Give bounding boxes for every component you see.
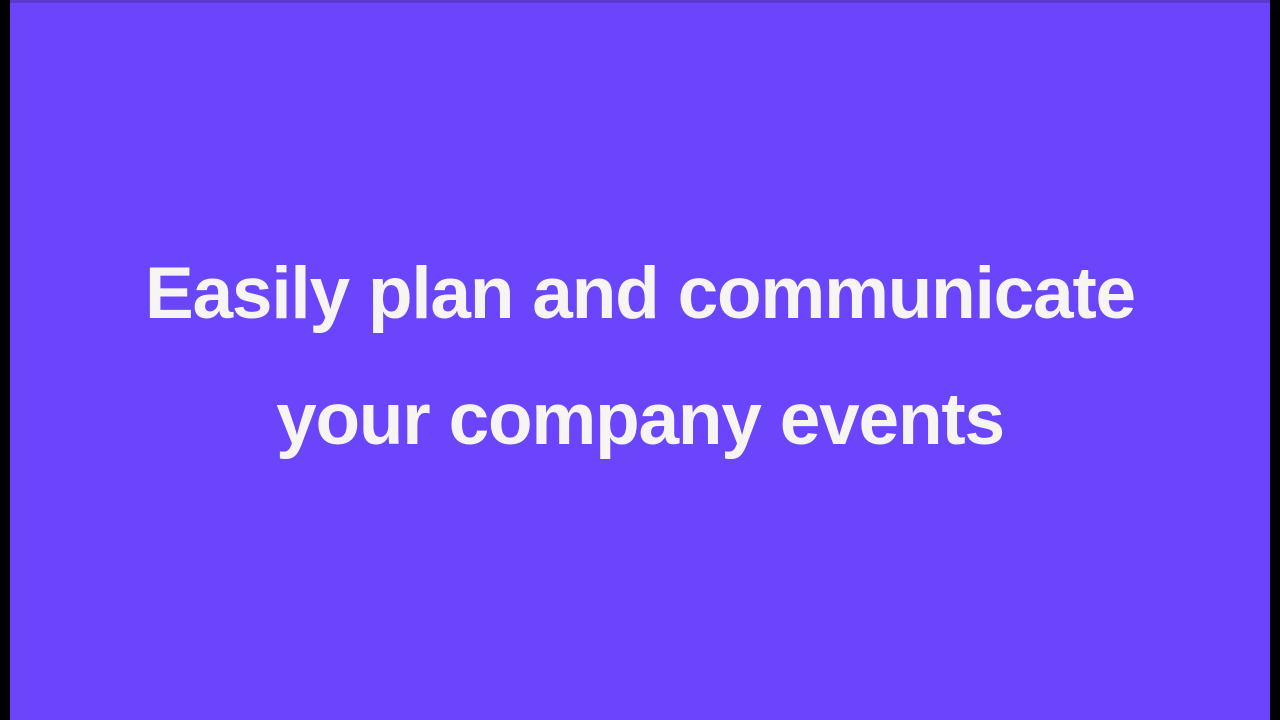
headline-line-2: your company events	[276, 357, 1004, 483]
headline-block: Easily plan and communicate your company…	[10, 0, 1270, 720]
video-stage: Easily plan and communicate your company…	[10, 0, 1270, 720]
letterbox-bar-left	[0, 0, 10, 720]
headline-line-1: Easily plan and communicate	[145, 231, 1135, 357]
slide-root: Easily plan and communicate your company…	[0, 0, 1280, 720]
letterbox-bar-right	[1270, 0, 1280, 720]
